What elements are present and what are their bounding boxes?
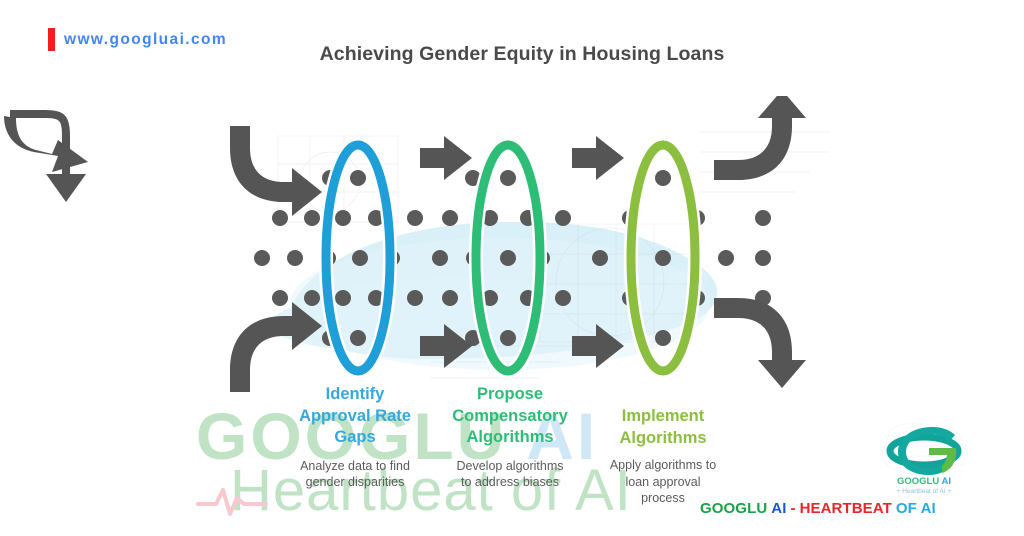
step-1-title: Identify Approval Rate Gaps [280, 384, 430, 449]
step-2-title-line-3: Algorithms [435, 427, 585, 449]
tagline-dash: - [790, 500, 795, 517]
step-3-title-line-2: Algorithms [588, 428, 738, 450]
step-1-desc-line-1: Analyze data to find [280, 458, 430, 475]
step-2-description: Develop algorithms to address biases [435, 458, 585, 491]
step-1: Identify Approval Rate Gaps Analyze data… [280, 384, 430, 491]
step-3-desc-line-2: loan approval [588, 474, 738, 491]
step-3-title: Implement Algorithms [588, 406, 738, 449]
brand-tagline: GOOGLUAI-HEARTBEATOF AI [700, 500, 936, 517]
page-title: Achieving Gender Equity in Housing Loans [0, 43, 1024, 66]
brand-logo: GOOGLU AI + Heartbeat of AI + [872, 418, 976, 496]
step-2-title-line-1: Propose [435, 384, 585, 406]
arrow-outbound-top [714, 96, 806, 180]
step-1-desc-line-2: gender disparities [280, 474, 430, 491]
tagline-googlu: GOOGLU [700, 500, 767, 517]
step-3: Implement Algorithms Apply algorithms to… [588, 406, 738, 507]
step-3-title-line-1: Implement [588, 406, 738, 428]
arrow-inbound-top [230, 126, 322, 216]
step-2-desc-line-2: to address biases [435, 474, 585, 491]
logo-brand-text: GOOGLU AI [897, 476, 951, 487]
infographic-canvas: www.googluai.com Achieving Gender Equity… [0, 0, 1024, 536]
logo-sub-text: + Heartbeat of AI + [897, 488, 952, 495]
process-diagram [0, 96, 1024, 396]
step-1-title-line-3: Gaps [280, 427, 430, 449]
step-captions: Identify Approval Rate Gaps Analyze data… [280, 380, 750, 510]
step-1-description: Analyze data to find gender disparities [280, 458, 430, 491]
tagline-heartbeat: HEARTBEAT [800, 500, 892, 517]
step-2-title: Propose Compensatory Algorithms [435, 384, 585, 449]
arrow-outbound-bottom [714, 298, 806, 388]
step-2: Propose Compensatory Algorithms Develop … [435, 384, 585, 491]
step-2-desc-line-1: Develop algorithms [435, 458, 585, 475]
step-1-title-line-1: Identify [280, 384, 430, 406]
inbound-arrow-top-shape [2, 114, 96, 182]
step-3-desc-line-1: Apply algorithms to [588, 457, 738, 474]
tagline-ai: AI [771, 500, 786, 517]
arrow-connector-1-top [420, 136, 472, 180]
step-1-title-line-2: Approval Rate [280, 406, 430, 428]
arrow-connector-2-top [572, 136, 624, 180]
tagline-of-ai: OF AI [896, 500, 936, 517]
step-2-title-line-2: Compensatory [435, 406, 585, 428]
